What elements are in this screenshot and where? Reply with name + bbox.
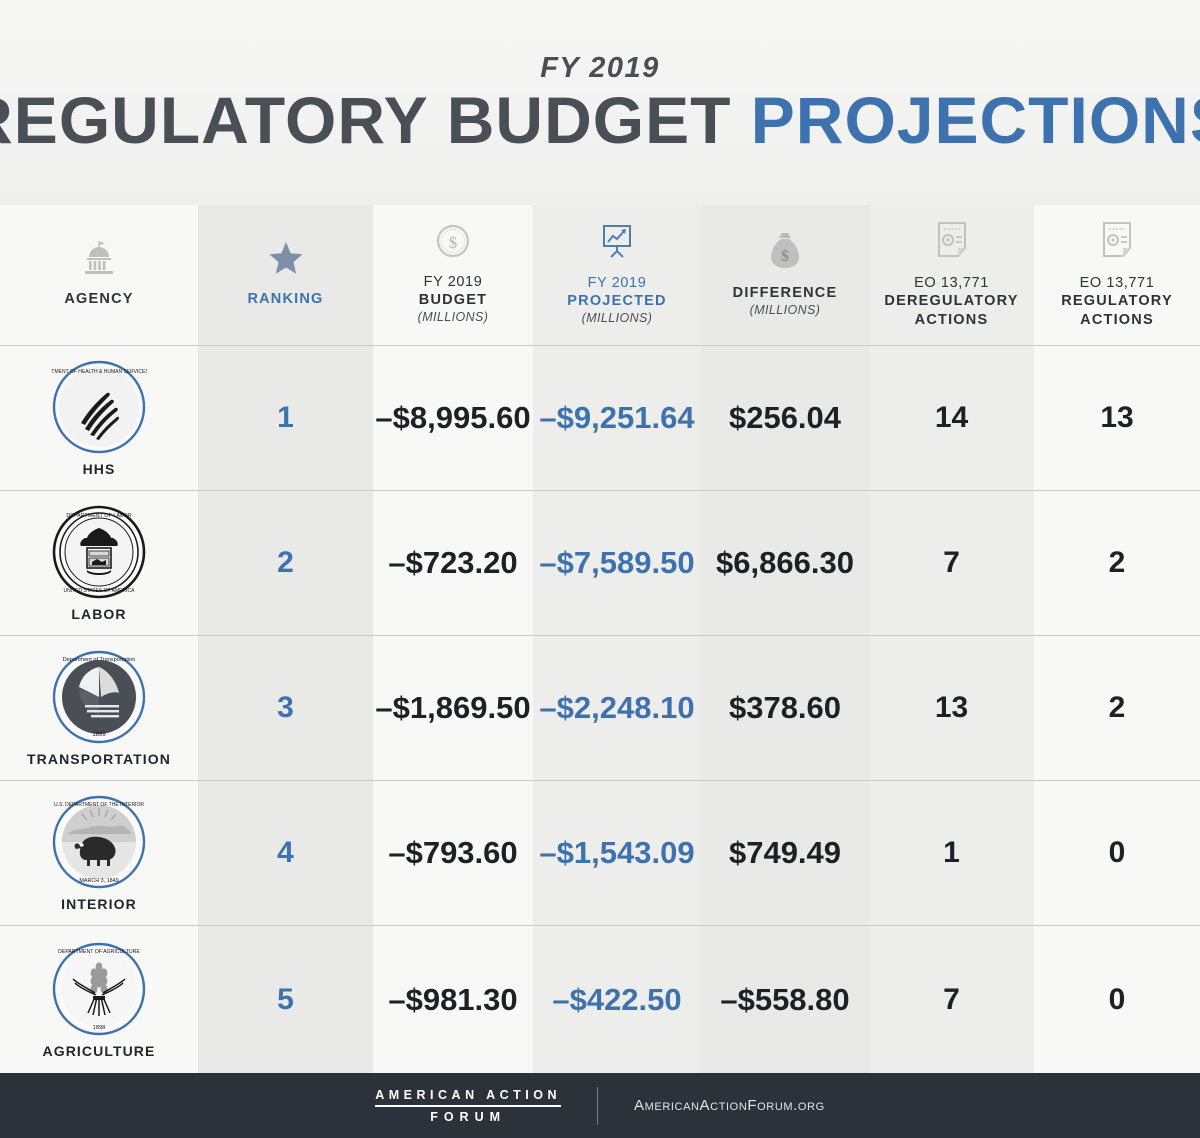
footer-url[interactable]: AmericanActionForum.org <box>634 1097 825 1114</box>
column-header-deregulatory-main: DEREGULATORY ACTIONS <box>884 293 1018 327</box>
column-header-projected: FY 2019 PROJECTED (MILLIONS) <box>533 205 701 345</box>
cell-deregulatory: 13 <box>869 636 1034 780</box>
cell-regulatory: 0 <box>1034 781 1200 925</box>
table-row: U.S. DEPARTMENT OF THE INTERIOR MARCH 3,… <box>0 780 1200 925</box>
cell-agency: Department of Transportation 1899 TRANSP… <box>0 636 198 780</box>
cell-agency: DEPARTMENT OF AGRICULTURE 1898 AGRICULTU… <box>0 926 198 1073</box>
transportation-seal: Department of Transportation 1899 <box>51 649 147 745</box>
agency-name: TRANSPORTATION <box>27 751 171 767</box>
regulatory-value: 2 <box>1109 691 1126 725</box>
cell-ranking: 2 <box>198 491 373 635</box>
cell-regulatory: 2 <box>1034 636 1200 780</box>
column-header-projected-main: PROJECTED <box>567 293 666 309</box>
cell-deregulatory: 7 <box>869 926 1034 1073</box>
cell-difference: $6,866.30 <box>701 491 869 635</box>
cell-projected: –$2,248.10 <box>533 636 701 780</box>
agency-name: LABOR <box>71 606 126 622</box>
budget-value: –$793.60 <box>388 835 517 871</box>
column-header-budget-top: FY 2019 <box>418 273 489 291</box>
table-row: DEPARTMENT OF LABOR UNITED STATES OF AME… <box>0 490 1200 635</box>
difference-value: $6,866.30 <box>716 545 854 581</box>
cell-regulatory: 0 <box>1034 926 1200 1073</box>
column-header-agency-label: AGENCY <box>64 290 133 308</box>
cell-deregulatory: 1 <box>869 781 1034 925</box>
svg-text:UNITED STATES OF AMERICA: UNITED STATES OF AMERICA <box>64 588 136 594</box>
column-header-budget: $ FY 2019 BUDGET (MILLIONS) <box>373 205 533 345</box>
agriculture-seal: DEPARTMENT OF AGRICULTURE 1898 <box>51 941 147 1037</box>
document-seal-icon <box>935 221 969 264</box>
deregulatory-value: 7 <box>943 546 960 580</box>
infographic-page: FY 2019 REGULATORY BUDGET PROJECTIONS <box>0 0 1200 1138</box>
table-row: DEPARTMENT OF AGRICULTURE 1898 AGRICULTU… <box>0 925 1200 1073</box>
svg-text:DEPARTMENT OF LABOR: DEPARTMENT OF LABOR <box>66 513 131 519</box>
cell-budget: –$793.60 <box>373 781 533 925</box>
regulatory-value: 0 <box>1109 836 1126 870</box>
difference-value: –$558.80 <box>720 982 849 1018</box>
table-row: DEPARTMENT OF HEALTH & HUMAN SERVICES · … <box>0 345 1200 490</box>
aaf-logo: AMERICAN ACTION FORUM <box>375 1088 561 1124</box>
svg-text:1899: 1899 <box>92 732 106 738</box>
interior-seal: U.S. DEPARTMENT OF THE INTERIOR MARCH 3,… <box>51 794 147 890</box>
svg-text:$: $ <box>449 233 458 252</box>
budget-value: –$981.30 <box>388 982 517 1018</box>
logo-line-bottom: FORUM <box>430 1110 506 1124</box>
title-accent: PROJECTIONS <box>751 83 1200 157</box>
regulatory-value: 0 <box>1109 983 1126 1017</box>
column-header-deregulatory-label: EO 13,771 DEREGULATORY ACTIONS <box>869 274 1034 328</box>
column-header-budget-main: BUDGET <box>419 292 487 308</box>
column-header-difference: $ DIFFERENCE (MILLIONS) <box>701 205 869 345</box>
cell-projected: –$422.50 <box>533 926 701 1073</box>
cell-agency: U.S. DEPARTMENT OF THE INTERIOR MARCH 3,… <box>0 781 198 925</box>
column-header-ranking: RANKING <box>198 205 373 345</box>
agency-name: HHS <box>83 461 116 477</box>
hhs-seal: DEPARTMENT OF HEALTH & HUMAN SERVICES · … <box>51 359 147 455</box>
projected-value: –$9,251.64 <box>539 400 694 436</box>
column-header-budget-sub: (MILLIONS) <box>418 310 489 326</box>
difference-value: $256.04 <box>729 400 841 436</box>
labor-seal: DEPARTMENT OF LABOR UNITED STATES OF AME… <box>51 504 147 600</box>
difference-value: $378.60 <box>729 690 841 726</box>
svg-text:1898: 1898 <box>93 1025 105 1031</box>
cell-deregulatory: 7 <box>869 491 1034 635</box>
cell-projected: –$7,589.50 <box>533 491 701 635</box>
table-row: Department of Transportation 1899 TRANSP… <box>0 635 1200 780</box>
column-header-difference-sub: (MILLIONS) <box>733 303 838 319</box>
cell-projected: –$9,251.64 <box>533 346 701 490</box>
column-header-regulatory-top: EO 13,771 <box>1034 274 1200 292</box>
regulatory-value: 13 <box>1100 401 1133 435</box>
svg-text:DEPARTMENT OF HEALTH & HUMAN S: DEPARTMENT OF HEALTH & HUMAN SERVICES · … <box>51 369 147 375</box>
regulatory-value: 2 <box>1109 546 1126 580</box>
column-header-projected-sub: (MILLIONS) <box>567 311 666 327</box>
cell-ranking: 3 <box>198 636 373 780</box>
cell-deregulatory: 14 <box>869 346 1034 490</box>
ranking-value: 4 <box>277 836 294 870</box>
dollar-coin-icon: $ <box>436 224 470 263</box>
cell-difference: $749.49 <box>701 781 869 925</box>
table-header-row: AGENCY RANKING $ <box>0 205 1200 345</box>
cell-regulatory: 2 <box>1034 491 1200 635</box>
column-header-deregulatory: EO 13,771 DEREGULATORY ACTIONS <box>869 205 1034 345</box>
column-header-agency: AGENCY <box>0 205 198 345</box>
svg-text:Department of Transportation: Department of Transportation <box>63 657 136 663</box>
money-bag-icon: $ <box>769 231 801 274</box>
deregulatory-value: 13 <box>935 691 968 725</box>
cell-budget: –$981.30 <box>373 926 533 1073</box>
budget-value: –$1,869.50 <box>375 690 530 726</box>
projected-value: –$1,543.09 <box>539 835 694 871</box>
document-seal-icon <box>1100 221 1134 264</box>
budget-table: AGENCY RANKING $ <box>0 205 1200 1073</box>
cell-agency: DEPARTMENT OF LABOR UNITED STATES OF AME… <box>0 491 198 635</box>
projected-value: –$7,589.50 <box>539 545 694 581</box>
column-header-difference-label: DIFFERENCE (MILLIONS) <box>733 284 838 319</box>
header-eyebrow: FY 2019 <box>540 52 660 85</box>
projected-value: –$422.50 <box>552 982 681 1018</box>
cell-ranking: 1 <box>198 346 373 490</box>
cell-regulatory: 13 <box>1034 346 1200 490</box>
ranking-value: 3 <box>277 691 294 725</box>
column-header-regulatory-label: EO 13,771 REGULATORY ACTIONS <box>1034 274 1200 328</box>
budget-value: –$723.20 <box>388 545 517 581</box>
svg-text:$: $ <box>781 248 789 265</box>
cell-ranking: 5 <box>198 926 373 1073</box>
svg-text:MARCH 3, 1849: MARCH 3, 1849 <box>79 878 118 884</box>
cell-budget: –$1,869.50 <box>373 636 533 780</box>
cell-budget: –$8,995.60 <box>373 346 533 490</box>
deregulatory-value: 7 <box>943 983 960 1017</box>
budget-value: –$8,995.60 <box>375 400 530 436</box>
cell-difference: $256.04 <box>701 346 869 490</box>
footer-divider <box>597 1087 598 1125</box>
cell-projected: –$1,543.09 <box>533 781 701 925</box>
ranking-value: 5 <box>277 983 294 1017</box>
column-header-regulatory-main: REGULATORY ACTIONS <box>1061 293 1173 327</box>
page-title: REGULATORY BUDGET PROJECTIONS <box>0 87 1200 153</box>
column-header-deregulatory-top: EO 13,771 <box>869 274 1034 292</box>
svg-text:U.S. DEPARTMENT OF THE INTERIO: U.S. DEPARTMENT OF THE INTERIOR <box>54 802 144 808</box>
cell-ranking: 4 <box>198 781 373 925</box>
cell-difference: $378.60 <box>701 636 869 780</box>
title-primary: REGULATORY BUDGET <box>0 83 731 157</box>
svg-text:DEPARTMENT OF AGRICULTURE: DEPARTMENT OF AGRICULTURE <box>58 949 140 955</box>
logo-line-top: AMERICAN ACTION <box>375 1088 561 1107</box>
column-header-budget-label: FY 2019 BUDGET (MILLIONS) <box>418 273 489 326</box>
cell-budget: –$723.20 <box>373 491 533 635</box>
page-header: FY 2019 REGULATORY BUDGET PROJECTIONS <box>0 0 1200 205</box>
deregulatory-value: 14 <box>935 401 968 435</box>
deregulatory-value: 1 <box>943 836 960 870</box>
column-header-difference-main: DIFFERENCE <box>733 285 838 301</box>
ranking-value: 1 <box>277 401 294 435</box>
agency-name: AGRICULTURE <box>43 1043 156 1059</box>
column-header-ranking-label: RANKING <box>247 290 323 308</box>
column-header-projected-label: FY 2019 PROJECTED (MILLIONS) <box>567 274 666 327</box>
agency-name: INTERIOR <box>61 896 137 912</box>
star-icon <box>269 242 303 280</box>
ranking-value: 2 <box>277 546 294 580</box>
column-header-projected-top: FY 2019 <box>567 274 666 292</box>
column-header-regulatory: EO 13,771 REGULATORY ACTIONS <box>1034 205 1200 345</box>
capitol-dome-icon <box>79 241 119 280</box>
projected-value: –$2,248.10 <box>539 690 694 726</box>
chart-presentation-icon <box>599 223 635 264</box>
page-footer: AMERICAN ACTION FORUM AmericanActionForu… <box>0 1073 1200 1138</box>
cell-agency: DEPARTMENT OF HEALTH & HUMAN SERVICES · … <box>0 346 198 490</box>
cell-difference: –$558.80 <box>701 926 869 1073</box>
difference-value: $749.49 <box>729 835 841 871</box>
